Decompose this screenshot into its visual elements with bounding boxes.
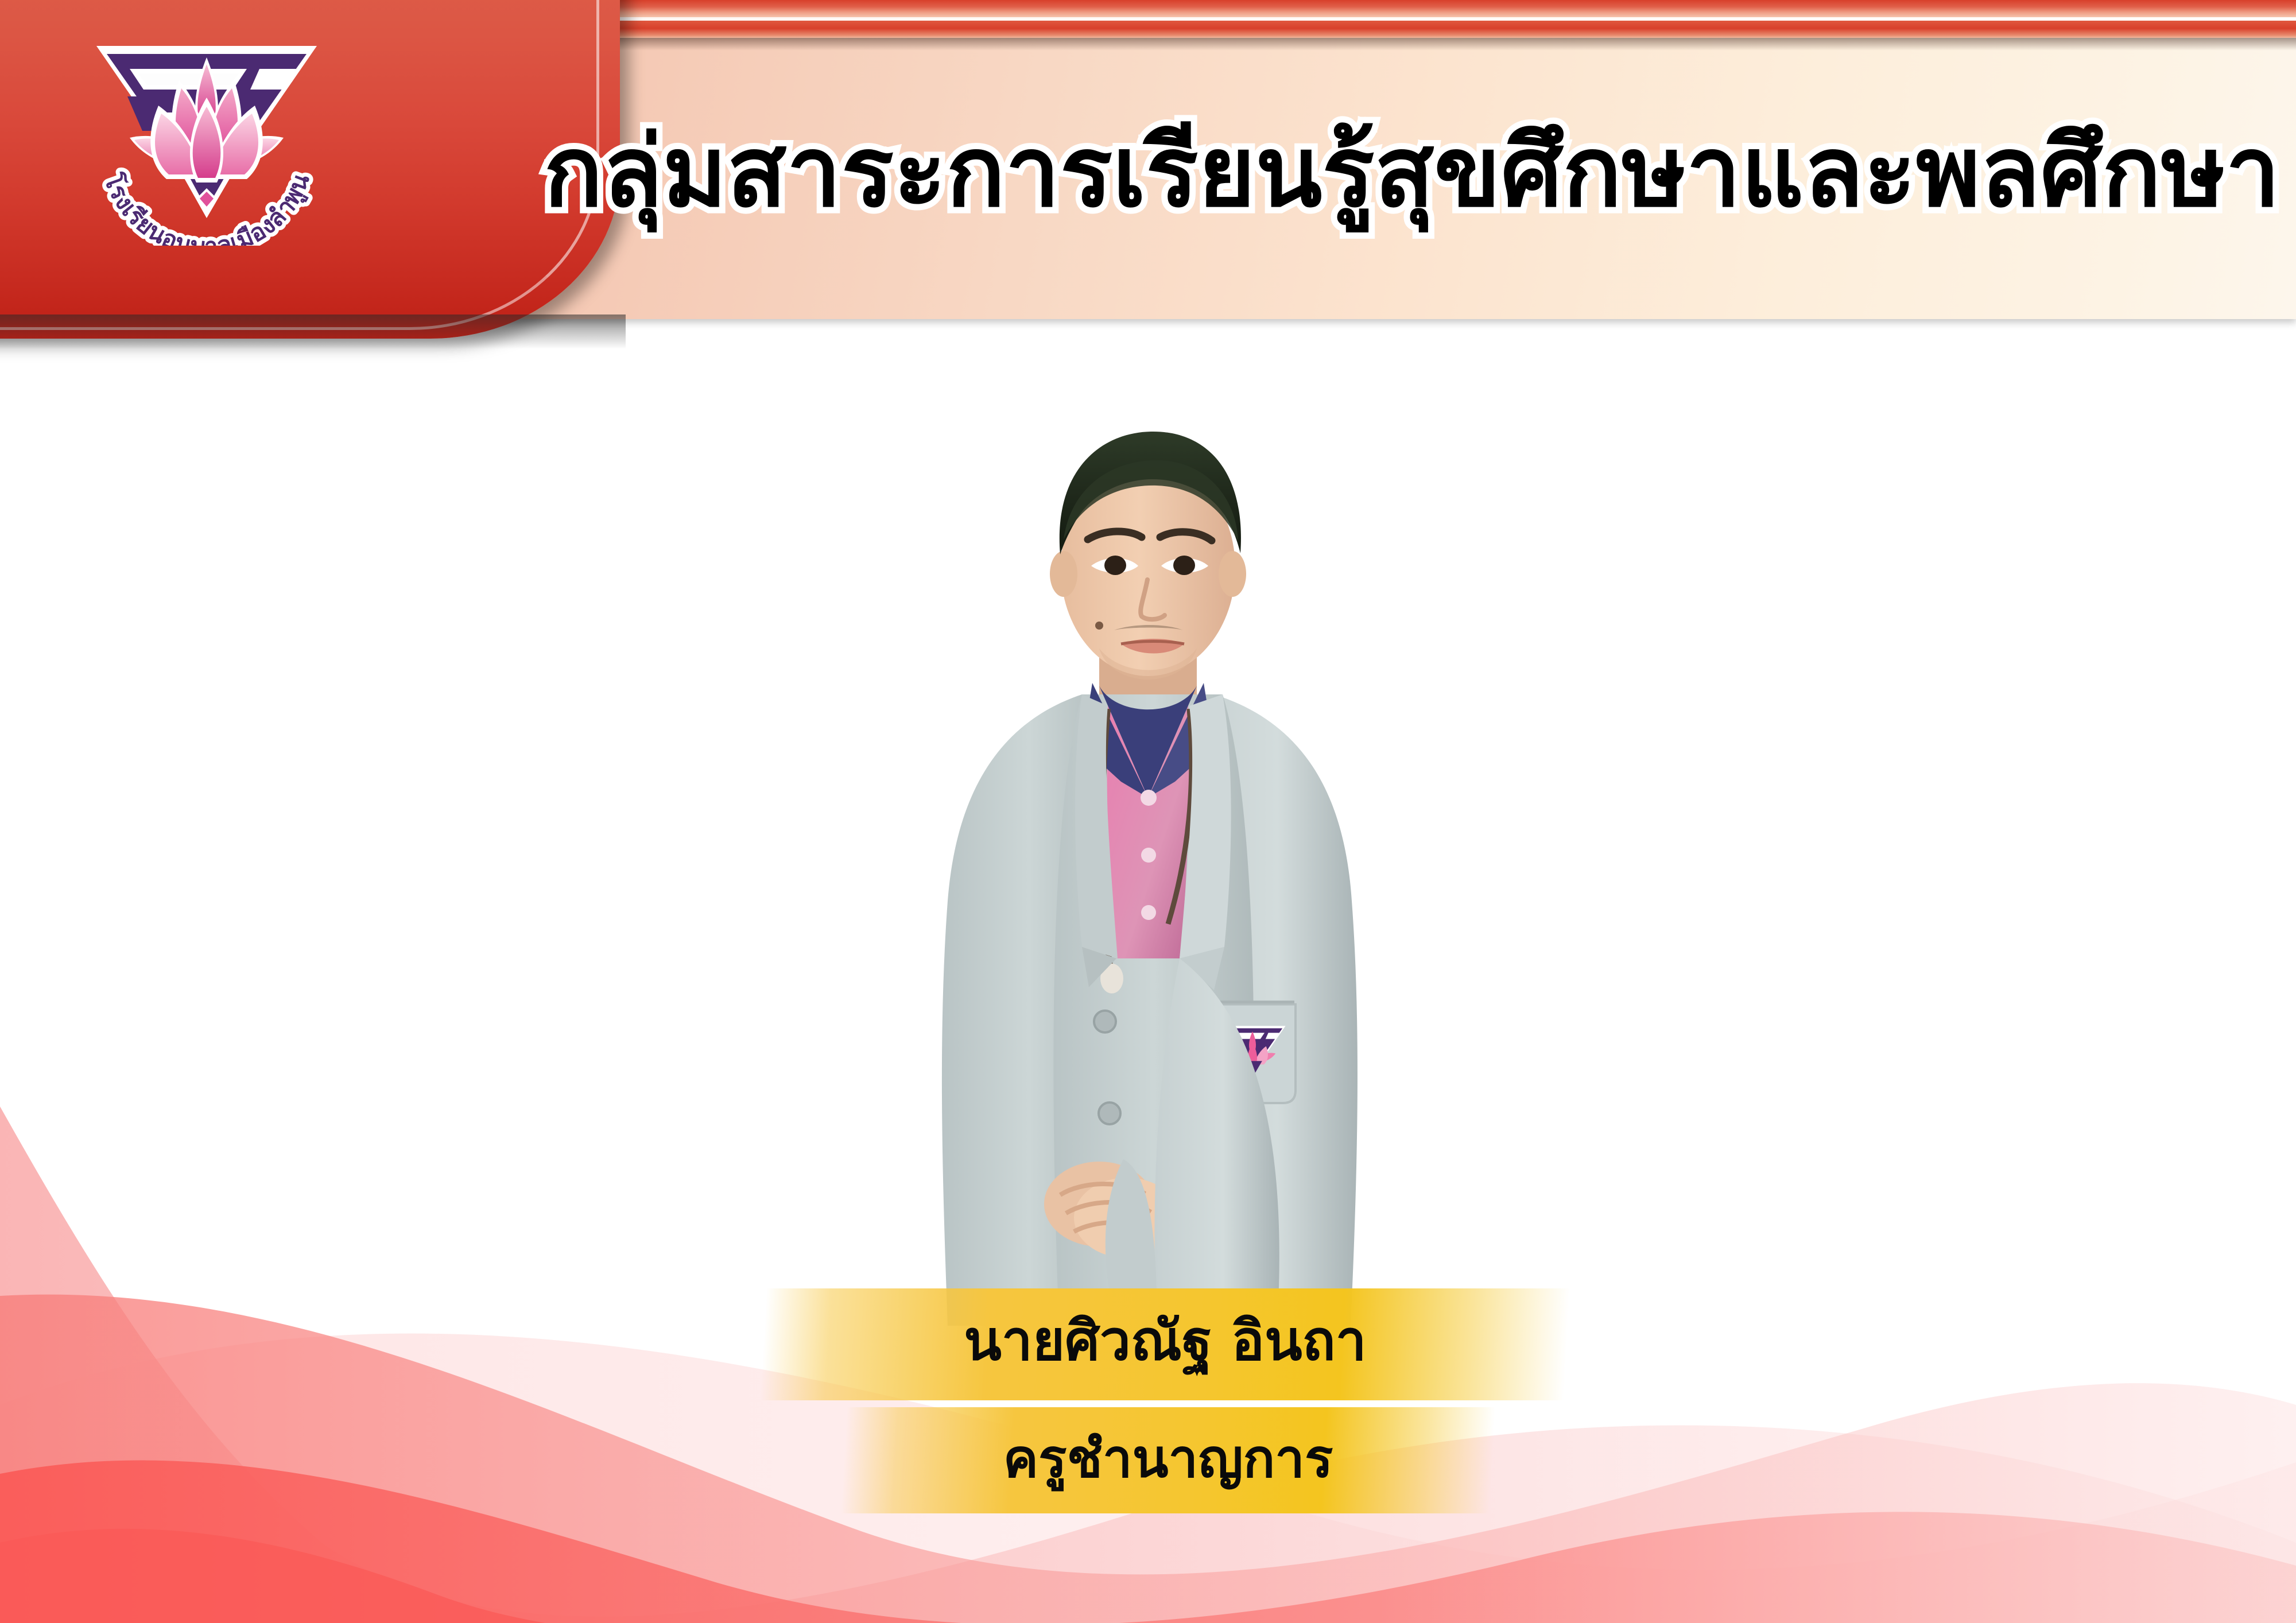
teacher-role: ครูชำนาญการ: [844, 1405, 1492, 1511]
red-panel-drop-shadow: [0, 314, 626, 349]
teacher-name: นายศิวณัฐ อินถา: [763, 1284, 1567, 1396]
school-logo: โรงเรียนอนุบาลเมืองลำพูน โรงเรียนอนุบาลเ…: [75, 16, 339, 246]
page-title: กลุ่มสาระการเรียนรู้สุขศึกษาและพลศึกษา: [563, 98, 2262, 247]
head: [1050, 432, 1246, 680]
teacher-portrait: [910, 396, 1386, 1360]
presentation-slide: โรงเรียนอนุบาลเมืองลำพูน โรงเรียนอนุบาลเ…: [0, 0, 2296, 1623]
